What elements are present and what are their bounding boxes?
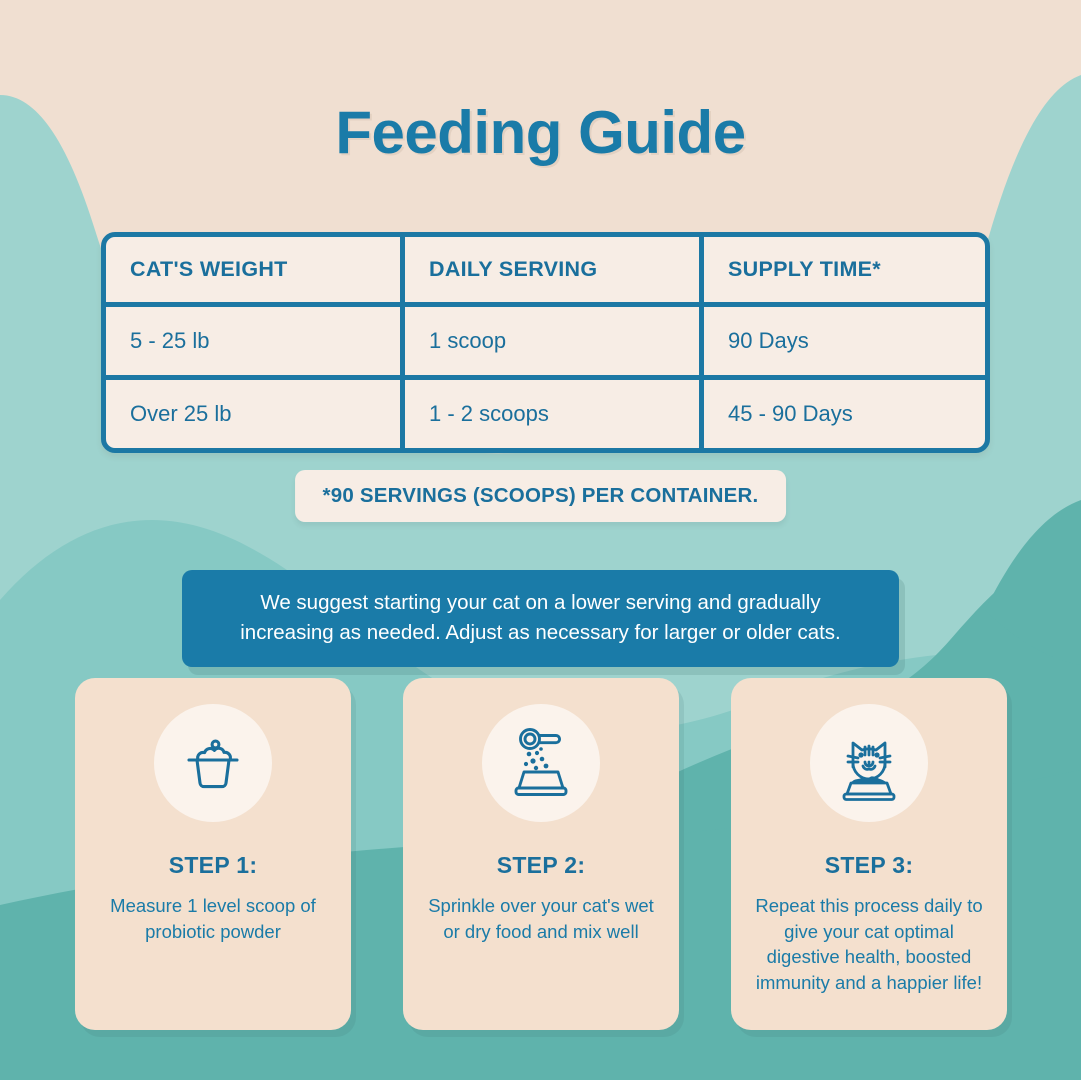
cat-eating-from-bowl-icon [829, 723, 909, 803]
table-header-supply-time: SUPPLY TIME* [704, 237, 975, 302]
step-3-icon-circle [810, 704, 928, 822]
step-1-title: STEP 1: [93, 852, 333, 879]
step-1-description: Measure 1 level scoop of probiotic powde… [93, 893, 333, 944]
servings-footnote: *90 SERVINGS (SCOOPS) PER CONTAINER. [295, 470, 787, 522]
table-cell-serving-2: 1 - 2 scoops [405, 380, 704, 448]
table-row: 5 - 25 lb 1 scoop 90 Days [106, 307, 985, 380]
step-card-2: STEP 2: Sprinkle over your cat's wet or … [403, 678, 679, 1030]
steps-row: STEP 1: Measure 1 level scoop of probiot… [75, 678, 1007, 1030]
table-cell-supply-1: 90 Days [704, 307, 975, 375]
step-3-description: Repeat this process daily to give your c… [749, 893, 989, 995]
page-title: Feeding Guide [0, 98, 1081, 167]
step-2-icon-circle [482, 704, 600, 822]
feeding-guide-poster: Feeding Guide CAT'S WEIGHT DAILY SERVING… [0, 0, 1081, 1080]
table-row: Over 25 lb 1 - 2 scoops 45 - 90 Days [106, 380, 985, 448]
step-2-description: Sprinkle over your cat's wet or dry food… [421, 893, 661, 944]
step-2-title: STEP 2: [421, 852, 661, 879]
measuring-scoop-leveled-icon [176, 726, 250, 800]
step-card-3: STEP 3: Repeat this process daily to giv… [731, 678, 1007, 1030]
scoop-sprinkling-over-bowl-icon [502, 724, 580, 802]
table-header-daily-serving: DAILY SERVING [405, 237, 704, 302]
table-header-cat-weight: CAT'S WEIGHT [106, 237, 405, 302]
table-cell-supply-2: 45 - 90 Days [704, 380, 975, 448]
table-header-row: CAT'S WEIGHT DAILY SERVING SUPPLY TIME* [106, 237, 985, 307]
step-1-icon-circle [154, 704, 272, 822]
step-3-title: STEP 3: [749, 852, 989, 879]
table-cell-weight-1: 5 - 25 lb [106, 307, 405, 375]
table-cell-weight-2: Over 25 lb [106, 380, 405, 448]
feeding-table: CAT'S WEIGHT DAILY SERVING SUPPLY TIME* … [101, 232, 990, 453]
table-cell-serving-1: 1 scoop [405, 307, 704, 375]
serving-suggestion-callout: We suggest starting your cat on a lower … [182, 570, 899, 667]
step-card-1: STEP 1: Measure 1 level scoop of probiot… [75, 678, 351, 1030]
